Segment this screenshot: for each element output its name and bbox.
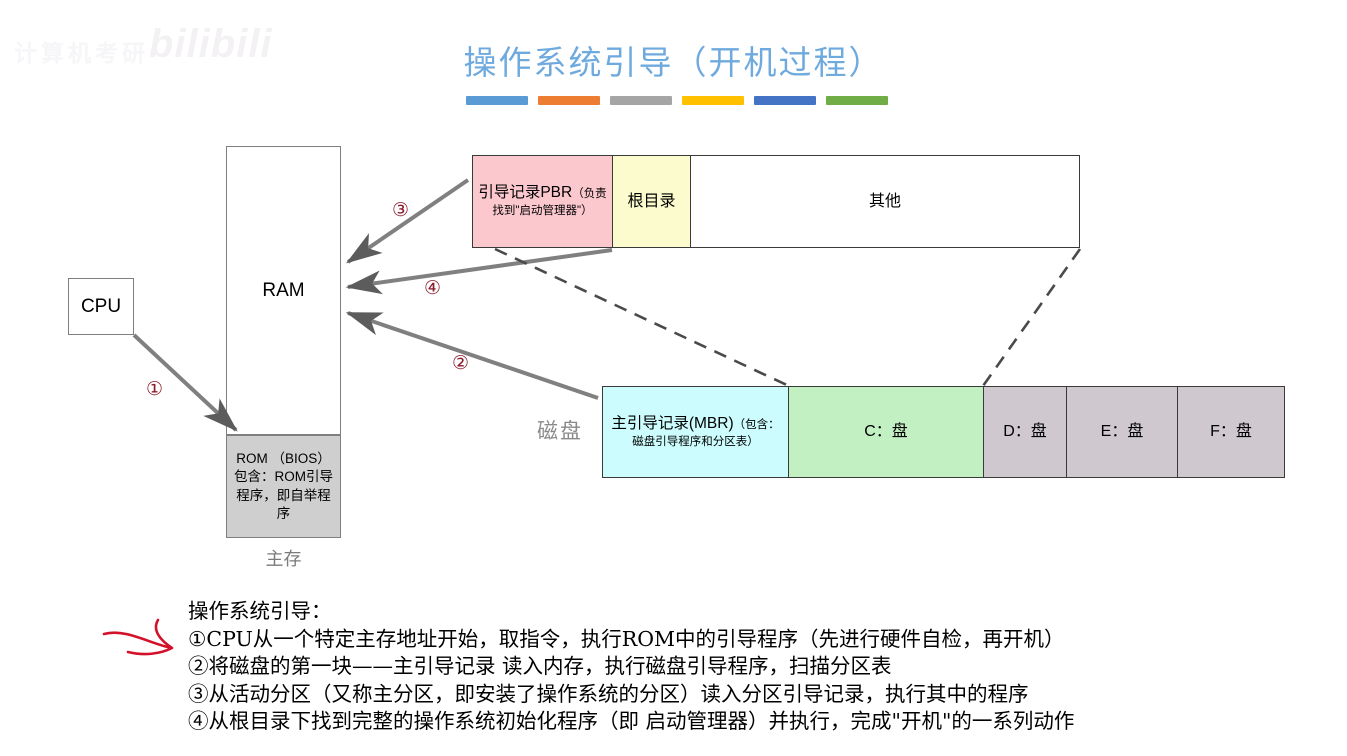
- rom-line-2: 包含：ROM引导: [234, 468, 333, 486]
- description-line-4: ④从根目录下找到完整的操作系统初始化程序（即 启动管理器）并执行，完成"开机"的…: [188, 708, 1338, 736]
- d-drive-label: D：盘: [1003, 421, 1047, 443]
- pbr-sub-label: 找到"启动管理器"）: [492, 204, 592, 220]
- mbr-main-label: 主引导记录(MBR)（包含：: [611, 414, 779, 435]
- description-line-2: ②将磁盘的第一块——主引导记录 读入内存，执行磁盘引导程序，扫描分区表: [188, 653, 1338, 681]
- title-bar-blue: [466, 96, 528, 105]
- slide-canvas: 计算机考研 bilibili 操作系统引导（开机过程） CPU RAM ROM …: [0, 0, 1347, 756]
- other-area-box: 其他: [690, 155, 1080, 248]
- step-marker-3: ③: [392, 201, 409, 220]
- d-drive-box: D：盘: [983, 386, 1067, 478]
- red-pointer-annotation: [104, 620, 172, 654]
- e-drive-box: E：盘: [1066, 386, 1178, 478]
- c-drive-box: C：盘: [788, 386, 984, 478]
- dashed-guide-left: [495, 249, 789, 386]
- e-drive-label: E：盘: [1101, 421, 1144, 443]
- description-block: 操作系统引导： ①CPU从一个特定主存地址开始，取指令，执行ROM中的引导程序（…: [188, 598, 1338, 736]
- step-marker-1: ①: [146, 380, 163, 399]
- c-drive-label: C：盘: [864, 421, 908, 443]
- step-marker-2: ②: [452, 354, 469, 373]
- pbr-box: 引导记录PBR（负责 找到"启动管理器"）: [472, 155, 613, 248]
- description-heading: 操作系统引导：: [188, 598, 1338, 626]
- arrow-step-3: [348, 180, 468, 262]
- pbr-main-label: 引导记录PBR（负责: [478, 183, 606, 204]
- mbr-sub-label: 磁盘引导程序和分区表）: [632, 435, 759, 451]
- title-bar-darkblue: [754, 96, 816, 105]
- title-bar-yellow: [682, 96, 744, 105]
- ram-label: RAM: [262, 278, 304, 304]
- arrow-step-4: [348, 250, 612, 287]
- dashed-guide-right: [983, 249, 1080, 386]
- page-title: 操作系统引导（开机过程）: [0, 36, 1347, 84]
- step-marker-4: ④: [424, 279, 441, 298]
- cpu-box: CPU: [68, 278, 134, 335]
- title-bar-green: [826, 96, 888, 105]
- description-line-3: ③从活动分区（又称主分区，即安装了操作系统的分区）读入分区引导记录，执行其中的程…: [188, 681, 1338, 709]
- rom-line-4: 序: [277, 505, 291, 523]
- f-drive-label: F：盘: [1210, 421, 1252, 443]
- title-accent-bars: [466, 96, 896, 110]
- description-line-1: ①CPU从一个特定主存地址开始，取指令，执行ROM中的引导程序（先进行硬件自检，…: [188, 626, 1338, 654]
- rom-bios-box: ROM （BIOS） 包含：ROM引导 程序，即自举程 序: [226, 435, 341, 538]
- root-directory-box: 根目录: [612, 155, 691, 248]
- mbr-box: 主引导记录(MBR)（包含： 磁盘引导程序和分区表）: [602, 386, 789, 478]
- cpu-label: CPU: [81, 294, 121, 320]
- arrow-step-2: [348, 313, 598, 398]
- other-area-label: 其他: [869, 191, 901, 213]
- ram-box: RAM: [226, 146, 341, 435]
- rom-line-3: 程序，即自举程: [236, 487, 331, 505]
- main-memory-label: 主存: [226, 545, 341, 571]
- rom-line-1: ROM （BIOS）: [236, 450, 331, 468]
- title-bar-orange: [538, 96, 600, 105]
- title-bar-gray: [610, 96, 672, 105]
- disk-label: 磁盘: [520, 415, 600, 445]
- root-directory-label: 根目录: [627, 191, 675, 213]
- f-drive-box: F：盘: [1177, 386, 1285, 478]
